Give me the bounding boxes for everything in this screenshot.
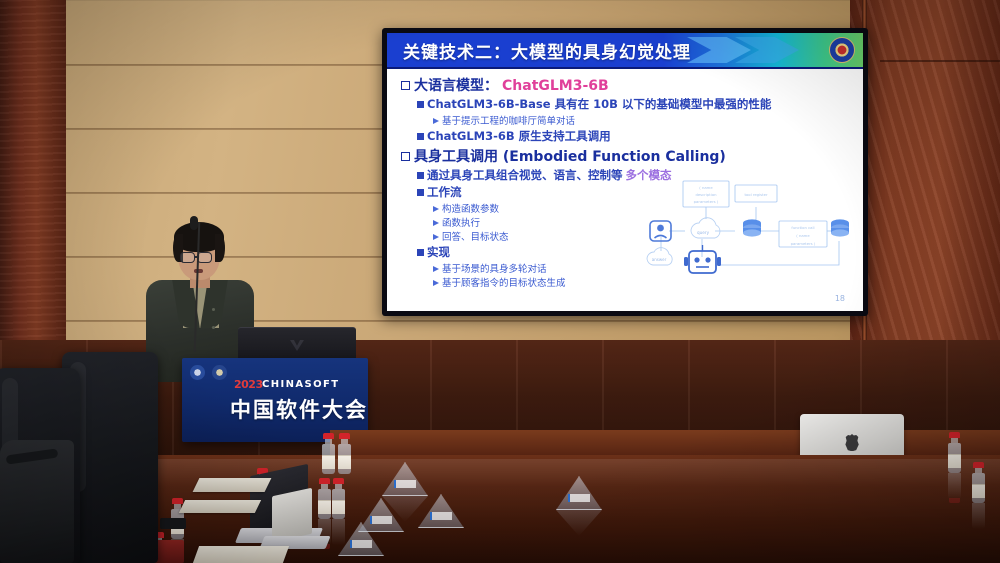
bottle-label [318,500,331,514]
water-bottle [332,478,345,519]
presentation-slide: 关键技术二：大模型的具身幻觉处理 大语言模型： ChatGLM3-6B Chat… [387,33,863,311]
name-card-strip [394,480,416,488]
arrow-bullet-icon [433,220,439,226]
svg-text:( name: ( name [796,233,810,238]
bullet-text: ChatGLM3-6B 原生支持工具调用 [427,128,611,144]
name-card-strip [568,494,590,502]
society-emblem-left-icon [190,365,205,380]
bullet-text: 实现 [427,244,450,260]
podium-chinese-name: 中国软件大会 [230,394,368,424]
eyeglasses-lens-right [197,252,212,263]
bottle-body [338,444,351,474]
filled-square-bullet-icon [417,249,424,256]
bullet-text: 具身工具调用 (Embodied Function Calling) [414,146,726,166]
bullet-text: ChatGLM3-6B-Base 具有在 10B 以下的基础模型中最强的性能 [427,96,771,112]
name-card-strip [350,540,372,548]
bottle-reflection [972,503,985,529]
filled-square-bullet-icon [417,101,424,108]
smartphone [160,518,186,529]
svg-text:parameters ): parameters ) [694,199,719,204]
svg-text:description: description [695,192,717,197]
slide-body: 大语言模型： ChatGLM3-6B ChatGLM3-6B-Base 具有在 … [395,73,857,307]
bottle-reflection [948,473,961,499]
bottle-body [318,489,331,519]
jacket-button [212,326,215,329]
svg-text:parameters ): parameters ) [791,241,816,246]
arrow-bullet-icon [433,118,439,124]
water-bottle [322,433,335,474]
bullet-text: 回答、目标状态 [442,229,509,243]
slide-title: 关键技术二：大模型的具身幻觉处理 [403,38,691,63]
laptop-screen [272,488,312,543]
display-panel: 关键技术二：大模型的具身幻觉处理 大语言模型： ChatGLM3-6B Chat… [387,33,863,311]
bullet-text: 构造函数参数 [442,201,499,215]
name-card-strip [430,512,452,520]
bottle-label [338,455,351,469]
water-bottle [972,462,985,503]
bottle-label [972,484,985,498]
hollow-square-bullet-icon [401,81,410,90]
bullet-level2: ChatGLM3-6B 原生支持工具调用 [417,128,857,144]
svg-text:answer: answer [652,257,667,262]
slide-flowchart-diagram: query answer [639,179,851,287]
bullet-level3: 基于提示工程的咖啡厅简单对话 [433,113,857,127]
bullet-text: 基于提示工程的咖啡厅简单对话 [442,113,575,127]
institution-seal-icon [829,37,855,63]
wall-column-left [0,0,66,352]
header-chevron-icon [687,37,751,63]
arrow-bullet-icon [433,234,439,240]
bullet-text: 工作流 [427,184,462,200]
bottle-reflection [332,519,345,545]
bottle-body [322,444,335,474]
wall-display: 关键技术二：大模型的具身幻觉处理 大语言模型： ChatGLM3-6B Chat… [382,28,868,316]
bullet-level2: ChatGLM3-6B-Base 具有在 10B 以下的基础模型中最强的性能 [417,96,857,112]
slide-header: 关键技术二：大模型的具身幻觉处理 [387,33,863,67]
bullet-text: 基于顾客指令的目标状态生成 [442,275,566,289]
slide-page-number: 18 [835,294,845,303]
apple-logo-icon [845,434,860,451]
slide-title-rule [387,67,863,69]
bullet-accent: ChatGLM3-6B [502,78,609,94]
bottle-body [948,443,961,473]
bullet-text: 函数执行 [442,215,480,229]
water-bottle [338,433,351,474]
bottle-reflection-cap [949,498,960,503]
paper-document [193,478,272,492]
society-emblem-right-icon [212,365,227,380]
bottle-body [972,473,985,503]
filled-square-bullet-icon [417,172,424,179]
bottle-label [948,454,961,468]
filled-square-bullet-icon [417,133,424,140]
bullet-text: 大语言模型： [414,75,498,95]
arrow-bullet-icon [433,206,439,212]
water-bottle [318,478,331,519]
bullet-level1: 大语言模型： ChatGLM3-6B [401,75,857,95]
svg-text:query: query [697,230,710,235]
paper-document [179,500,261,513]
bottle-label [322,455,335,469]
filled-square-bullet-icon [417,189,424,196]
bottle-body [332,489,345,519]
svg-text:( name: ( name [699,185,713,190]
jacket-button [212,308,215,311]
bottle-label [332,500,345,514]
wall-panel-seam [880,60,1000,62]
microphone-head-icon [190,216,198,230]
name-card-strip [370,516,392,524]
bullet-text: 基于场景的具身多轮对话 [442,261,547,275]
svg-text:function call: function call [791,225,814,230]
bullet-text: 通过具身工具组合视觉、语言、控制等 [427,167,623,183]
conference-room-scene: 关键技术二：大模型的具身幻觉处理 大语言模型： ChatGLM3-6B Chat… [0,0,1000,563]
bullet-level1: 具身工具调用 (Embodied Function Calling) [401,146,857,166]
podium-laptop [238,327,356,361]
arrow-bullet-icon [433,266,439,272]
svg-text:tool register: tool register [744,192,767,197]
podium-year: 2023 [234,378,263,391]
eyeglasses-lens-left [180,252,195,263]
speaker-hair-side [215,234,225,262]
arrow-bullet-icon [433,280,439,286]
hollow-square-bullet-icon [401,152,410,161]
paper-document [193,546,289,563]
water-bottle [948,432,961,473]
podium-english-name: CHINASOFT [262,379,340,390]
